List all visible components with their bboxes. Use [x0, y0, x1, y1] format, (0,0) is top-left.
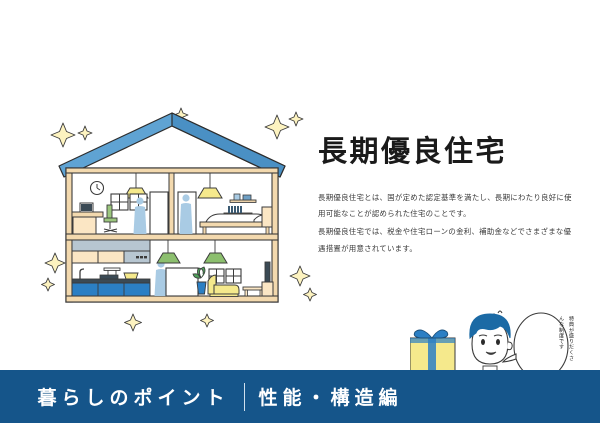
poster-canvas: 長期優良住宅 長期優良住宅とは、国が定めた認定基準を満たし、長期にわたり良好に使…: [0, 0, 600, 423]
banner-divider: [244, 383, 245, 411]
character-head: [470, 314, 512, 364]
eye-left: [481, 339, 485, 345]
laptop: [80, 203, 93, 212]
body-paragraph-1: 長期優良住宅とは、国が定めた認定基準を満たし、長期にわたり良好に使用可能なことが…: [318, 190, 576, 223]
banner-right-label: 性能・構造編: [259, 383, 403, 410]
wall-clock: [91, 182, 104, 195]
banner-left-label: 暮らしのポイント: [37, 383, 229, 410]
banner-content: 暮らしのポイント 性能・構造編: [0, 370, 440, 423]
speech-bubble-text: 特典が盛りだくさんな制度です: [541, 316, 575, 362]
body-paragraph-2: 長期優良住宅では、税金や住宅ローンの金利、補助金などでさまざまな優遇措置が用意さ…: [318, 224, 576, 257]
text-column: 長期優良住宅 長期優良住宅とは、国が定めた認定基準を満たし、長期にわたり良好に使…: [318, 136, 576, 257]
eye-right: [496, 339, 500, 345]
stove: [100, 275, 118, 279]
pot: [124, 273, 138, 279]
page-title: 長期優良住宅: [318, 136, 576, 168]
door-hall: [166, 268, 198, 296]
door-study: [150, 192, 168, 234]
bottom-banner: 暮らしのポイント 性能・構造編: [0, 370, 600, 423]
